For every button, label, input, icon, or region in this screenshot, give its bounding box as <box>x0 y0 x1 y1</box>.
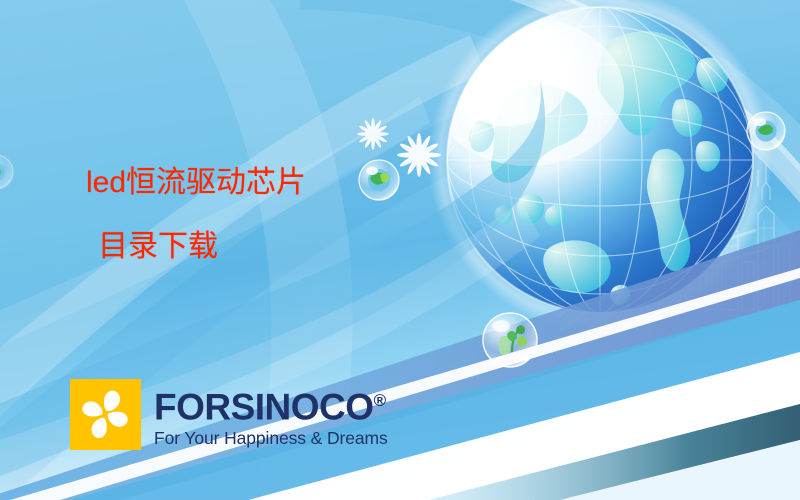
brand-tagline: For Your Happiness & Dreams <box>154 428 388 448</box>
company-logo: FORSINOCO® For Your Happiness & Dreams <box>70 379 388 450</box>
brand-word: FORSINOCO <box>154 386 374 427</box>
registered-trademark-icon: ® <box>374 391 387 410</box>
bubble-globe-topright <box>747 112 785 150</box>
logo-wordmark-block: FORSINOCO® For Your Happiness & Dreams <box>154 379 388 448</box>
brand-name: FORSINOCO® <box>154 383 388 425</box>
headline-line-1: led恒流驱动芯片 <box>86 168 306 198</box>
headline-line-2: 目录下载 <box>98 232 306 262</box>
bubble-globe-leaf <box>483 313 537 367</box>
page-title: led恒流驱动芯片 目录下载 <box>86 168 306 262</box>
promo-banner: led恒流驱动芯片 目录下载 FORSINOCO® For Your Happi… <box>0 0 800 500</box>
forsinoco-pinwheel-icon <box>70 379 141 450</box>
bubble-globe-small <box>359 160 399 200</box>
